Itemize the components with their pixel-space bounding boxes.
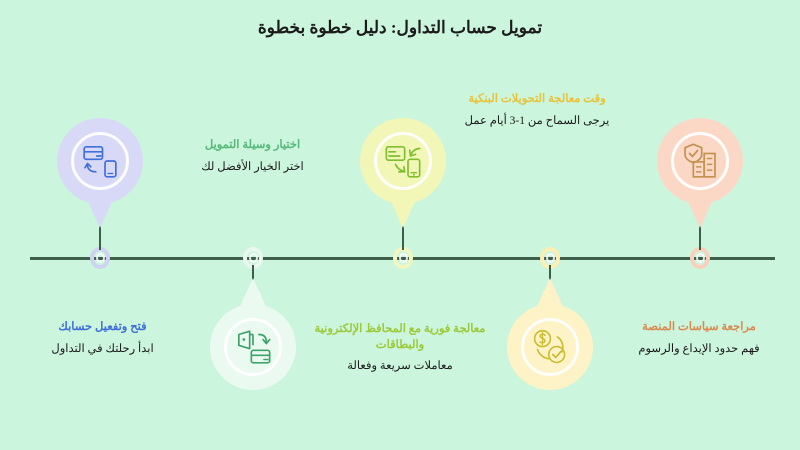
label-step-2: اختيار وسيلة التمويل اختر الخيار الأفضل … — [160, 138, 345, 175]
label-step-5: مراجعة سياسات المنصة فهم حدود الإيداع وا… — [608, 320, 790, 357]
node-inner-ring — [96, 253, 105, 263]
node-inner-ring — [399, 253, 408, 263]
node-inner-ring — [546, 253, 555, 263]
label-heading: مراجعة سياسات المنصة — [608, 320, 790, 336]
wallet-card-icon — [233, 327, 273, 367]
pin-ring — [224, 318, 282, 376]
label-step-3: معالجة فورية مع المحافظ الإلكترونية والب… — [305, 322, 495, 374]
label-heading: معالجة فورية مع المحافظ الإلكترونية والب… — [305, 322, 495, 353]
label-heading: اختيار وسيلة التمويل — [160, 138, 345, 154]
infographic-canvas: تمويل حساب التداول: دليل خطوة بخطوة — [0, 0, 800, 450]
label-subtext: يرجى السماح من 1-3 أيام عمل — [452, 113, 622, 129]
label-subtext: ابدأ رحلتك في التداول — [10, 341, 195, 357]
label-subtext: اختر الخيار الأفضل لك — [160, 159, 345, 175]
pin-step-5[interactable] — [657, 118, 743, 230]
timeline-node-3 — [393, 247, 413, 269]
page-title: تمويل حساب التداول: دليل خطوة بخطوة — [0, 18, 800, 38]
label-step-4: وقت معالجة التحويلات البنكية يرجى السماح… — [452, 92, 622, 129]
pin-step-2[interactable] — [210, 278, 296, 390]
card-phone-transfer-icon — [80, 141, 120, 181]
pin-step-1[interactable] — [57, 118, 143, 230]
card-phone-exchange-icon — [383, 141, 423, 181]
timeline-node-5 — [690, 247, 710, 269]
coin-check-icon — [530, 327, 570, 367]
pin-ring — [71, 132, 129, 190]
pin-ring — [374, 132, 432, 190]
label-subtext: فهم حدود الإيداع والرسوم — [608, 341, 790, 357]
pin-step-4[interactable] — [507, 278, 593, 390]
shield-check-building-icon — [680, 141, 720, 181]
label-step-1: فتح وتفعيل حسابك ابدأ رحلتك في التداول — [10, 320, 195, 357]
node-inner-ring — [249, 253, 258, 263]
node-inner-ring — [696, 253, 705, 263]
pin-ring — [521, 318, 579, 376]
label-subtext: معاملات سريعة وفعالة — [305, 358, 495, 374]
pin-ring — [671, 132, 729, 190]
timeline-node-1 — [90, 247, 110, 269]
label-heading: وقت معالجة التحويلات البنكية — [452, 92, 622, 108]
pin-step-3[interactable] — [360, 118, 446, 230]
label-heading: فتح وتفعيل حسابك — [10, 320, 195, 336]
